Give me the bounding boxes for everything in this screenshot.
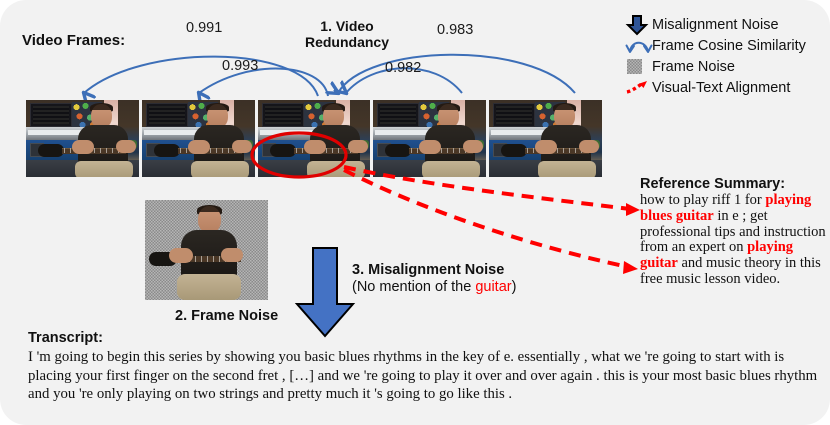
down-arrow-icon (626, 15, 652, 35)
frame-noise-caption: 2. Frame Noise (175, 308, 278, 324)
noise-square-icon (626, 57, 652, 77)
alignment-arrowhead-upper (626, 203, 640, 216)
legend-label-frame-noise: Frame Noise (652, 59, 735, 75)
misalignment-noise-subtitle: (No mention of the guitar) (352, 279, 516, 295)
legend-label-visual-text-alignment: Visual-Text Alignment (652, 80, 790, 96)
dashed-arrow-icon (626, 78, 652, 98)
alignment-arrow-upper (344, 167, 630, 209)
frame-noise-image[interactable] (145, 200, 268, 300)
legend-item-misalignment-noise: Misalignment Noise (626, 14, 826, 35)
transcript: Transcript: I 'm going to begin this ser… (28, 330, 818, 404)
reference-summary-heading: Reference Summary: (640, 176, 830, 192)
double-arc-arrow-icon (626, 36, 652, 56)
legend: Misalignment Noise Frame Cosine Similari… (626, 14, 826, 98)
misalignment-noise-keyword: guitar (475, 279, 511, 295)
alignment-arrowhead-lower (623, 261, 638, 274)
misalignment-noise-label: 3. Misalignment Noise (No mention of the… (352, 262, 516, 296)
transcript-body: I 'm going to begin this series by showi… (28, 348, 818, 404)
legend-label-misalignment-noise: Misalignment Noise (652, 17, 779, 33)
transcript-heading: Transcript: (28, 330, 818, 346)
figure-panel: Video Frames: 1. Video Redundancy 0.991 … (0, 0, 830, 425)
reference-summary: Reference Summary: how to play riff 1 fo… (640, 176, 830, 288)
ref-seg-0: how to play riff 1 for (640, 192, 765, 208)
legend-item-frame-cosine-similarity: Frame Cosine Similarity (626, 35, 826, 56)
legend-item-visual-text-alignment: Visual-Text Alignment (626, 77, 826, 98)
legend-item-frame-noise: Frame Noise (626, 56, 826, 77)
reference-summary-body: how to play riff 1 for playing blues gui… (640, 193, 830, 288)
guitar-highlight-ellipse (252, 133, 346, 177)
alignment-arrow-lower (344, 170, 628, 267)
legend-label-frame-cosine-similarity: Frame Cosine Similarity (652, 38, 806, 54)
misalignment-noise-title: 3. Misalignment Noise (352, 262, 504, 278)
